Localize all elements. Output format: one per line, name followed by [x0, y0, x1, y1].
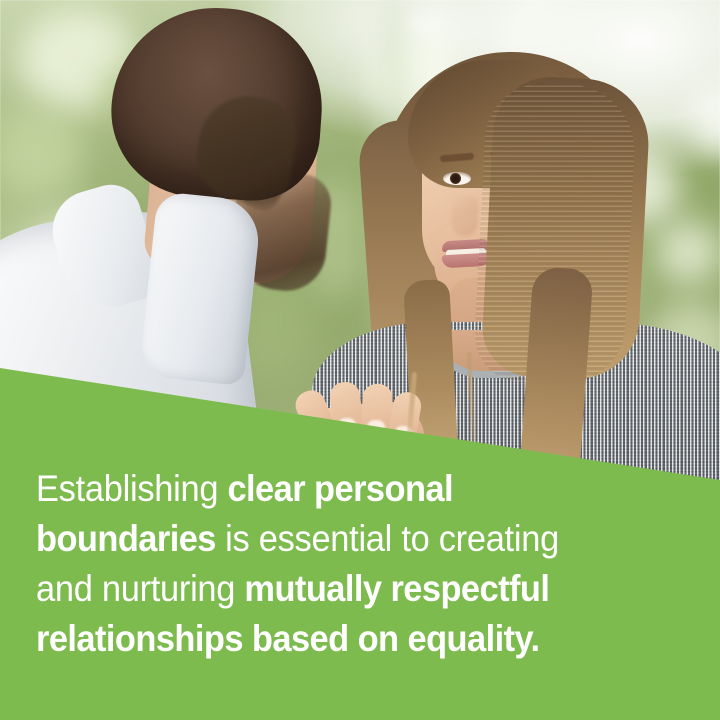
quote-emphasis: clear personal [227, 468, 453, 509]
quote-line-2: boundaries is essential to creating [36, 514, 631, 564]
woman-nose [452, 196, 478, 236]
quote-line-4: relationships based on equality. [36, 614, 631, 664]
man-shirt-collar [139, 191, 263, 386]
quote-emphasis: mutually respectful [244, 568, 549, 609]
quote-line-3: and nurturing mutually respectful [36, 564, 631, 614]
quote-emphasis: relationships based on equality. [36, 618, 540, 659]
quote-plain: is essential to creating [216, 518, 559, 559]
quote-text: Establishing clear personal boundaries i… [36, 464, 631, 664]
quote-line-1: Establishing clear personal [36, 464, 631, 514]
quote-card: Establishing clear personal boundaries i… [0, 0, 720, 720]
quote-plain: and nurturing [36, 568, 244, 609]
woman-iris-left [450, 173, 461, 184]
quote-emphasis: boundaries [36, 518, 216, 559]
quote-plain: Establishing [36, 468, 227, 509]
